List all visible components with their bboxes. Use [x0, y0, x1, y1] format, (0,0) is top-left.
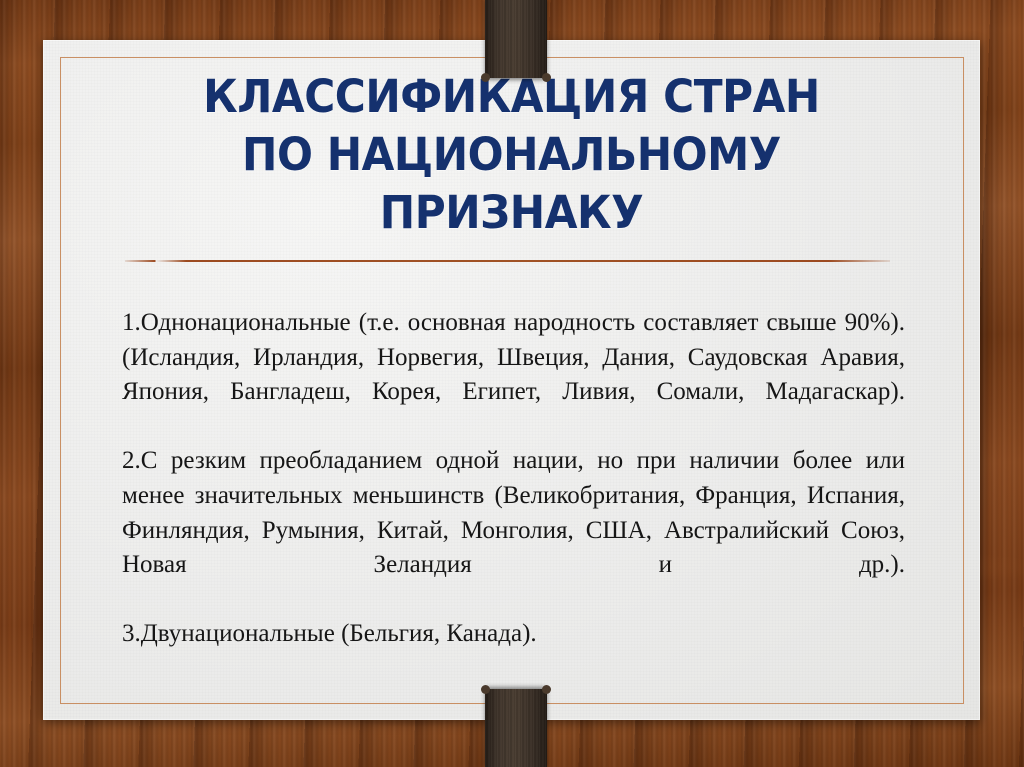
presentation-slide: КЛАССИФИКАЦИЯ СТРАН ПО НАЦИОНАЛЬНОМУ ПРИ…	[0, 0, 1024, 767]
slide-content: КЛАССИФИКАЦИЯ СТРАН ПО НАЦИОНАЛЬНОМУ ПРИ…	[43, 40, 980, 720]
list-item: 1.Однонациональные (т.е. основная народн…	[122, 306, 905, 444]
list-item: 2.С резким преобладанием одной нации, но…	[122, 444, 905, 617]
title-divider-rule	[125, 260, 890, 262]
slide-title: КЛАССИФИКАЦИЯ СТРАН ПО НАЦИОНАЛЬНОМУ ПРИ…	[128, 68, 896, 242]
bottom-paper-clip	[485, 689, 547, 767]
paper-sheet: КЛАССИФИКАЦИЯ СТРАН ПО НАЦИОНАЛЬНОМУ ПРИ…	[43, 40, 980, 720]
body-text-block: 1.Однонациональные (т.е. основная народн…	[122, 306, 905, 652]
top-paper-clip	[485, 0, 547, 78]
list-item: 3.Двунациональные (Бельгия, Канада).	[122, 617, 905, 652]
